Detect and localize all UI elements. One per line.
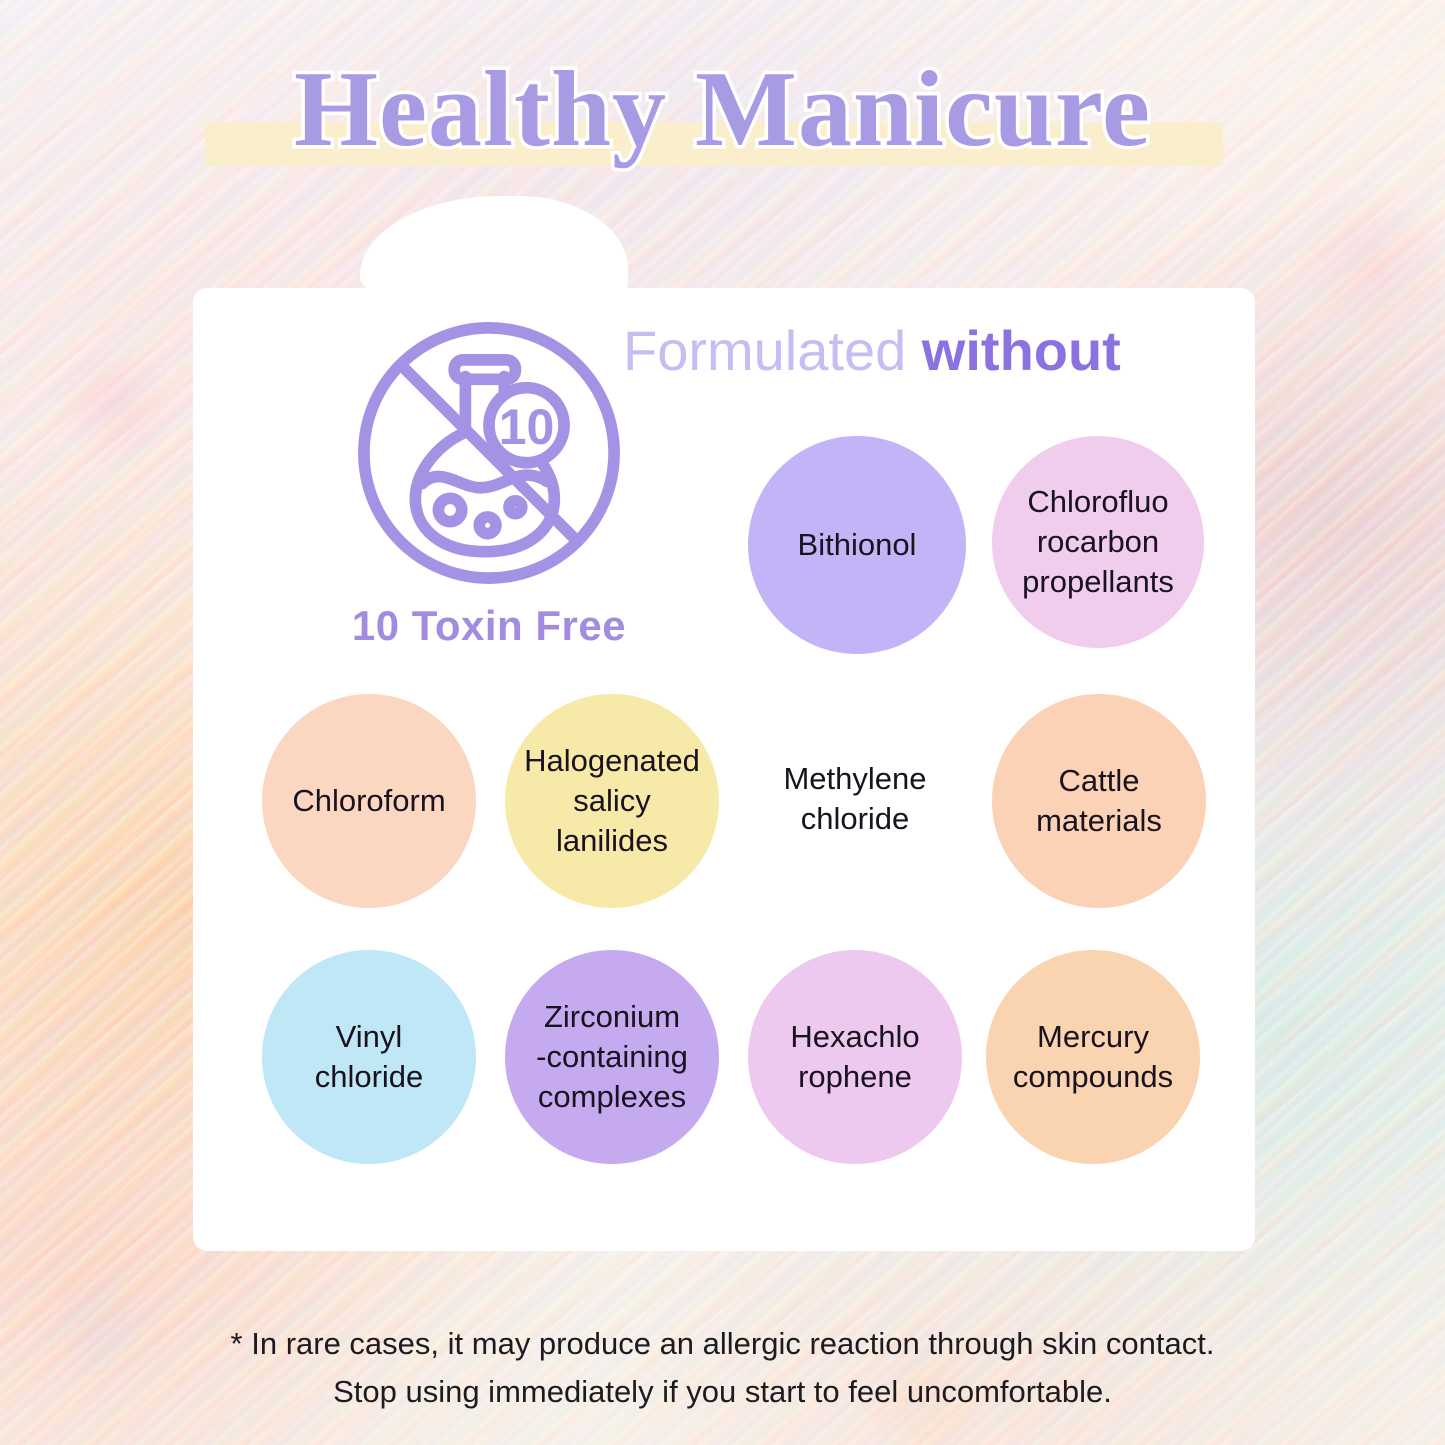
ingredient-bubble-label: Halogenatedsalicylanilides [524, 741, 700, 860]
ingredient-bubble: Halogenatedsalicylanilides [505, 694, 719, 908]
ingredient-bubble-label: Hexachlorophene [790, 1017, 919, 1096]
ingredient-bubble-label: Methylenechloride [783, 759, 926, 838]
ingredient-bubble: Mercurycompounds [986, 950, 1200, 1164]
heading-light-part: Formulated [623, 319, 922, 382]
ingredient-bubble-label: Bithionol [798, 525, 917, 565]
heading-bold-part: without [922, 319, 1121, 382]
ingredient-bubble-label: Chlorofluorocarbonpropellants [1022, 482, 1174, 601]
badge-number: 10 [499, 399, 555, 455]
ingredient-bubble: Chlorofluorocarbonpropellants [992, 436, 1204, 648]
ingredient-bubble: Cattlematerials [992, 694, 1206, 908]
ingredient-bubble: Zirconium-containingcomplexes [505, 950, 719, 1164]
ingredient-bubble: Methylenechloride [748, 692, 962, 906]
footnote-line-1: * In rare cases, it may produce an aller… [0, 1320, 1445, 1368]
ingredient-bubble-label: Mercurycompounds [1013, 1017, 1173, 1096]
ingredient-bubble-label: Vinylchloride [315, 1017, 424, 1096]
ingredient-bubble-label: Cattlematerials [1036, 761, 1162, 840]
footnote-disclaimer: * In rare cases, it may produce an aller… [0, 1320, 1445, 1416]
ingredient-bubble-label: Zirconium-containingcomplexes [536, 997, 688, 1116]
ingredient-bubble: Vinylchloride [262, 950, 476, 1164]
poster-canvas: Healthy Manicure [0, 0, 1445, 1445]
toxin-free-caption: 10 Toxin Free [289, 602, 689, 650]
footnote-line-2: Stop using immediately if you start to f… [0, 1368, 1445, 1416]
ingredient-bubble: Hexachlorophene [748, 950, 962, 1164]
ingredient-bubble: Bithionol [748, 436, 966, 654]
content-card: 10 10 Toxin Free Formulated without Bith… [193, 288, 1255, 1251]
ingredient-bubble: Chloroform [262, 694, 476, 908]
section-heading: Formulated without [623, 320, 1223, 382]
ingredient-bubble-label: Chloroform [292, 781, 445, 821]
page-title: Healthy Manicure [0, 56, 1445, 164]
